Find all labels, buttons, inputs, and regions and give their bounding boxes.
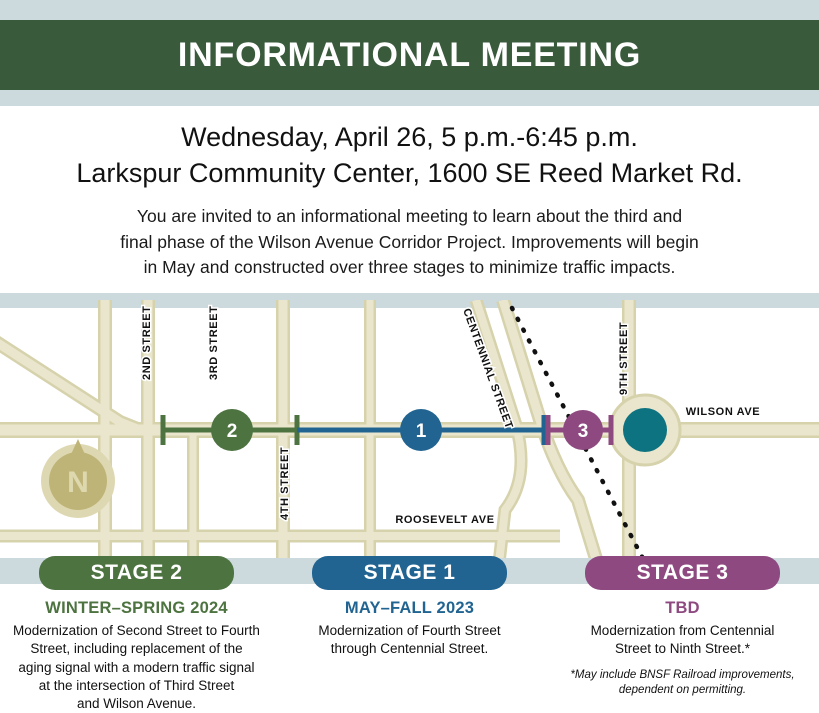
stage-1-date: MAY–FALL 2023 [283,599,536,618]
stage-column-3: STAGE 3 TBD Modernization from Centennia… [546,556,819,713]
stage-2-desc-line-3: aging signal with a modern traffic signa… [10,659,263,677]
map-marker-1[interactable]: 1 [400,409,442,451]
meeting-when: Wednesday, April 26, 5 p.m.-6:45 p.m. La… [0,120,819,191]
map-marker-2[interactable]: 2 [211,409,253,451]
street-label-roosevelt: ROOSEVELT AVE [395,514,494,526]
map-svg: N 2 [0,300,819,572]
stage-3-footnote: *May include BNSF Railroad improvements,… [556,668,809,699]
stage-1-desc-line-2: through Centennial Street. [283,640,536,658]
stage-3-footnote-line-2: dependent on permitting. [556,683,809,699]
banner: INFORMATIONAL MEETING [0,20,819,90]
stage-3-footnote-line-1: *May include BNSF Railroad improvements, [556,668,809,684]
stage-3-desc-line-2: Street to Ninth Street.* [556,640,809,658]
stage-2-desc-line-5: and Wilson Avenue. [10,695,263,713]
map-marker-3-label: 3 [578,421,589,442]
meeting-blurb: You are invited to an informational meet… [60,204,760,280]
street-label-4th: 4TH STREET [279,447,291,520]
blurb-line-3: in May and constructed over three stages… [60,255,760,280]
stage-column-1: STAGE 1 MAY–FALL 2023 Modernization of F… [273,556,546,713]
stage-1-pill[interactable]: STAGE 1 [312,556,507,590]
page-title: INFORMATIONAL MEETING [178,36,641,75]
street-label-2nd: 2ND STREET [141,306,153,380]
stage-2-description: Modernization of Second Street to Fourth… [10,622,263,713]
top-accent-band [0,0,819,20]
meeting-details: Wednesday, April 26, 5 p.m.-6:45 p.m. La… [0,106,819,293]
street-label-3rd: 3RD STREET [208,306,220,380]
stage-3-desc-line-1: Modernization from Centennial [556,622,809,640]
stage-2-date: WINTER–SPRING 2024 [10,599,263,618]
stage-2-desc-line-1: Modernization of Second Street to Fourth [10,622,263,640]
roundabout [610,395,680,465]
map-marker-1-label: 1 [416,421,427,442]
stage-3-description: Modernization from Centennial Street to … [556,622,809,658]
stage-2-desc-line-4: at the intersection of Third Street [10,677,263,695]
blurb-line-2: final phase of the Wilson Avenue Corrido… [60,230,760,255]
stage-column-2: STAGE 2 WINTER–SPRING 2024 Modernization… [0,556,273,713]
flyer-page: INFORMATIONAL MEETING Wednesday, April 2… [0,0,819,713]
project-map: N 2 [0,300,819,572]
street-label-wilson: WILSON AVE [686,406,760,418]
meeting-location: Larkspur Community Center, 1600 SE Reed … [0,156,819,192]
stage-2-pill[interactable]: STAGE 2 [39,556,234,590]
meeting-datetime: Wednesday, April 26, 5 p.m.-6:45 p.m. [0,120,819,156]
stage-1-description: Modernization of Fourth Street through C… [283,622,536,658]
map-marker-2-label: 2 [227,421,238,442]
stage-3-pill[interactable]: STAGE 3 [585,556,780,590]
under-banner-accent-band [0,90,819,106]
compass-north-label: N [67,466,89,499]
blurb-line-1: You are invited to an informational meet… [60,204,760,229]
street-label-9th: 9TH STREET [618,322,630,395]
stage-legend: STAGE 2 WINTER–SPRING 2024 Modernization… [0,556,819,713]
stage-1-desc-line-1: Modernization of Fourth Street [283,622,536,640]
stage-3-date: TBD [556,599,809,618]
stage-2-desc-line-2: Street, including replacement of the [10,640,263,658]
map-marker-3[interactable]: 3 [563,410,603,450]
